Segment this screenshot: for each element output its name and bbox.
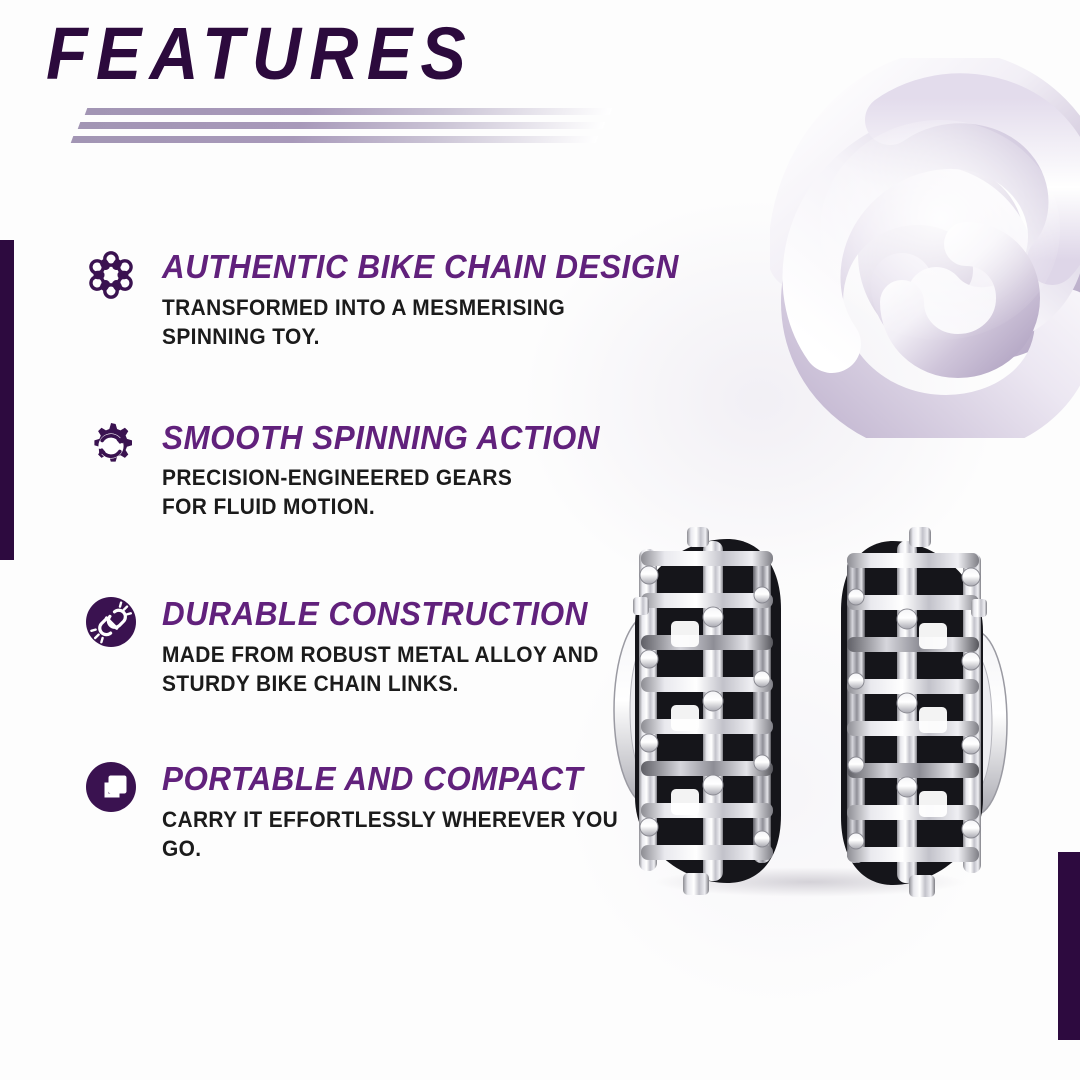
right-edge-accent-bar — [1058, 852, 1080, 1040]
feature-item-smooth-spinning-action: SMOOTH SPINNING ACTION PRECISION-ENGINEE… — [84, 419, 654, 522]
feature-description: MADE FROM ROBUST METAL ALLOY AND STURDY … — [162, 640, 629, 698]
title-rule-3 — [71, 136, 599, 143]
compact-squares-icon — [84, 760, 138, 814]
feature-text-block: SMOOTH SPINNING ACTION PRECISION-ENGINEE… — [162, 419, 654, 522]
abstract-3d-torus-knot-ribbon-icon — [770, 58, 1080, 438]
feature-heading: PORTABLE AND COMPACT — [162, 762, 629, 796]
bike-chain-loop-icon — [84, 248, 138, 302]
title-underline-rules — [38, 108, 678, 154]
left-edge-accent-bar — [0, 240, 14, 560]
feature-heading: AUTHENTIC BIKE CHAIN DESIGN — [162, 250, 629, 284]
unbreakable-link-icon — [84, 595, 138, 649]
feature-description: CARRY IT EFFORTLESSLY WHEREVER YOU GO. — [162, 805, 629, 863]
knot-drop-shadow — [830, 398, 1050, 432]
feature-heading: SMOOTH SPINNING ACTION — [162, 421, 629, 455]
title-rule-1 — [85, 108, 613, 115]
feature-text-block: AUTHENTIC BIKE CHAIN DESIGN TRANSFORMED … — [162, 248, 654, 351]
feature-heading: DURABLE CONSTRUCTION — [162, 597, 629, 631]
header: FEATURES — [46, 18, 666, 89]
features-list: AUTHENTIC BIKE CHAIN DESIGN TRANSFORMED … — [84, 248, 654, 863]
feature-text-block: DURABLE CONSTRUCTION MADE FROM ROBUST ME… — [162, 595, 654, 698]
feature-text-block: PORTABLE AND COMPACT CARRY IT EFFORTLESS… — [162, 760, 654, 863]
page-title: FEATURES — [46, 18, 616, 89]
feature-description: PRECISION-ENGINEERED GEARS FOR FLUID MOT… — [162, 463, 629, 521]
feature-infographic-page: FEATURES — [0, 0, 1080, 1080]
feature-item-authentic-bike-chain-design: AUTHENTIC BIKE CHAIN DESIGN TRANSFORMED … — [84, 248, 654, 351]
title-rule-2 — [78, 122, 606, 129]
gear-rotation-icon — [84, 419, 138, 473]
feature-item-portable-and-compact: PORTABLE AND COMPACT CARRY IT EFFORTLESS… — [84, 760, 654, 863]
feature-description: TRANSFORMED INTO A MESMERISING SPINNING … — [162, 293, 629, 351]
feature-item-durable-construction: DURABLE CONSTRUCTION MADE FROM ROBUST ME… — [84, 595, 654, 698]
